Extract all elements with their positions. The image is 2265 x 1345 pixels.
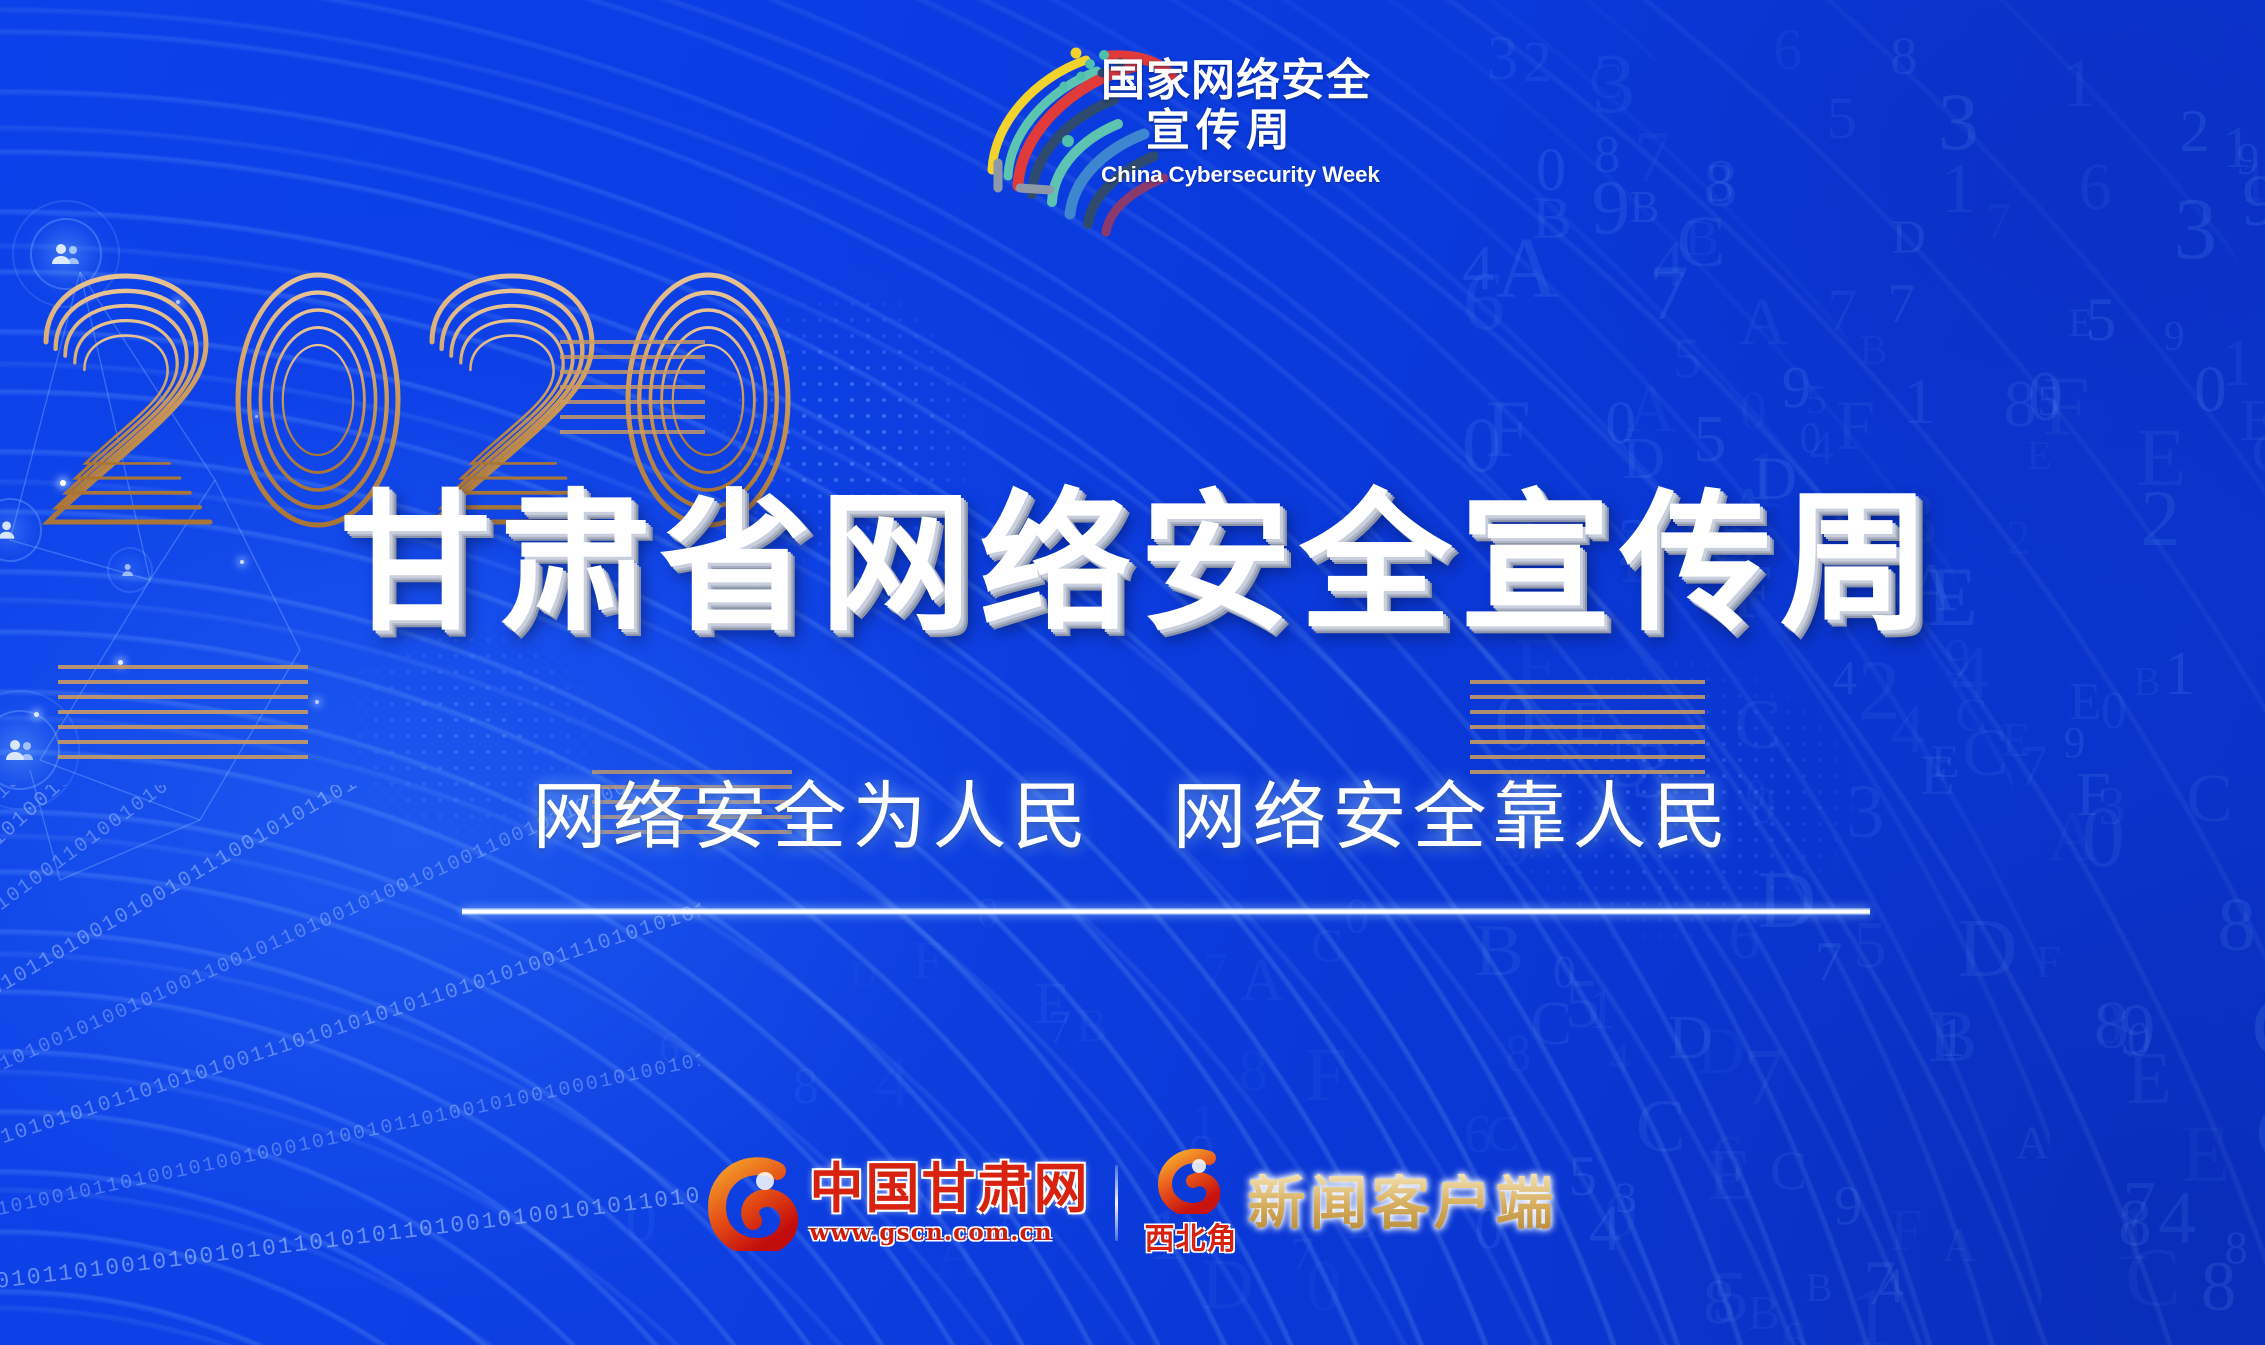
hex-texture-char: 1 [1941, 154, 1977, 225]
brand-gscn-name: 中国甘肃网 [809, 1161, 1089, 1215]
hex-texture-char: B [1859, 330, 1887, 373]
hex-texture-char: 7 [1634, 120, 1671, 194]
hex-texture-char: 6 [1463, 260, 1505, 344]
hex-texture-char: 3 [1487, 27, 1519, 90]
hex-texture-char: C [1530, 993, 1572, 1055]
hex-texture-char: E [1034, 974, 1070, 1033]
hex-texture-char: B [1076, 1003, 1107, 1050]
hex-texture-char: A [1738, 287, 1787, 355]
gold-stripes-left [58, 665, 308, 765]
brand-gscn: 中国甘肃网 www.gscn.com.cn [707, 1155, 1089, 1251]
hex-texture-char: F [2043, 365, 2090, 450]
hex-texture-char: 4 [1609, 1038, 1630, 1081]
hex-texture-char: 4 [1833, 655, 1857, 704]
hex-texture-char: 8 [1703, 149, 1737, 217]
logo-text-block: 国家网络安全 宣传周 China Cybersecurity Week [1101, 56, 1341, 188]
hex-texture-char: 4 [1462, 236, 1494, 300]
gold-stripes-right [1470, 680, 1705, 780]
hex-texture-char: B [1474, 914, 1524, 989]
hex-texture-char: E [1571, 695, 1605, 751]
people-icon [51, 243, 81, 265]
hex-texture-char: E [2136, 416, 2187, 499]
hex-texture-char: 0 [1306, 1251, 1342, 1323]
hex-texture-char: 7 [1815, 935, 1843, 991]
hex-texture-char: 5 [1827, 89, 1857, 150]
hex-texture-char: 0 [1345, 891, 1370, 941]
hex-texture-char: 9 [2164, 317, 2185, 359]
people-icon [5, 739, 35, 761]
hex-texture-char: B [2133, 661, 2161, 702]
hex-texture-char: 4 [1879, 1261, 1904, 1310]
hex-texture-char: 8 [1239, 1042, 1268, 1100]
hex-texture-char: 2 [1858, 648, 1901, 734]
hex-texture-char: 2 [2180, 102, 2210, 162]
gscn-logo-icon [707, 1155, 799, 1251]
hex-texture-char: 8 [1594, 129, 1621, 182]
hex-texture-char: C [1734, 690, 1781, 761]
xibeijiao-logo-icon [1153, 1148, 1229, 1214]
hex-texture-char: D [1892, 215, 1926, 262]
hex-texture-char: 5 [1693, 407, 1726, 473]
hex-texture-char: 5 [2085, 290, 2116, 352]
logo-title-line1: 国家网络安全 [1101, 56, 1341, 106]
hex-texture-char: 8 [1505, 1027, 1532, 1080]
hex-texture-char: 1 [2221, 329, 2255, 397]
hex-texture-char: 1 [1938, 1011, 1966, 1067]
hex-texture-char: 9 [2237, 136, 2260, 182]
logo-title-line2: 宣传周 [1101, 106, 1341, 156]
hex-texture-char: E [2068, 303, 2093, 343]
hex-texture-char: F [2036, 940, 2061, 985]
gold-stripes-mid-top [560, 340, 705, 435]
title-divider [462, 908, 1870, 915]
hex-texture-char: 9 [2119, 993, 2156, 1066]
page-title: 甘肃省网络安全宣传周 [0, 488, 2265, 640]
hex-texture-char: 1 [1587, 981, 1616, 1039]
page-subtitle: 网络安全为人民 网络安全靠人民 [0, 780, 2265, 854]
hex-texture-char: 8 [2201, 1252, 2237, 1323]
hex-texture-char: 5 [2038, 381, 2059, 424]
hex-texture-char: 5 [1712, 1261, 1748, 1334]
hex-texture-char: 1 [1191, 1098, 1216, 1149]
hex-texture-char: 7 [1888, 276, 1916, 332]
hex-texture-char: 3 [1938, 81, 1979, 163]
hex-texture-char: 5 [1853, 912, 1886, 979]
hex-texture-char: F [1485, 388, 1530, 470]
hex-texture-char: C [2252, 985, 2265, 1071]
hex-texture-char: 0 [1553, 949, 1576, 995]
hex-texture-char: E [2027, 435, 2052, 476]
hex-texture-char: C [1590, 56, 1623, 106]
hex-texture-char: 5 [1565, 970, 1600, 1040]
hex-texture-char: 8 [2003, 372, 2036, 439]
hex-texture-char: 1 [2222, 118, 2252, 177]
hex-texture-char: 8 [2095, 990, 2130, 1059]
hex-texture-char: B [1748, 1289, 1781, 1338]
hex-texture-char: F [1836, 391, 1876, 462]
hex-texture-char: D [1201, 1248, 1253, 1321]
hex-texture-char: 4 [1951, 635, 1989, 712]
hex-texture-char: 1 [2240, 152, 2265, 211]
hex-texture-char: 9 [1782, 358, 1812, 417]
hex-texture-char: 0 [2101, 685, 2127, 738]
hex-texture-char: 0 [1605, 393, 1636, 455]
hex-texture-char: 4 [874, 1045, 910, 1117]
hex-texture-char: 1 [2061, 49, 2095, 118]
hex-texture-char: 8 [1703, 1270, 1735, 1334]
hex-texture-char: 7 [1986, 196, 2011, 247]
hex-texture-char: 4 [1891, 694, 1926, 763]
hex-texture-char: B [1806, 1268, 1833, 1309]
hex-texture-char: E [2126, 1042, 2171, 1116]
hex-texture-char: E [2002, 717, 2032, 765]
hex-texture-char: 7 [1864, 1251, 1896, 1315]
hex-texture-char: 3 [1707, 156, 1734, 211]
hex-texture-char: C [1311, 923, 1342, 970]
hex-texture-char: 0 [1494, 681, 1535, 764]
hex-texture-char: D [1957, 908, 2017, 992]
hex-texture-char: B [1685, 213, 1720, 265]
hex-texture-char: F [1305, 1038, 1347, 1114]
hex-texture-char: 2 [1523, 33, 1552, 92]
hex-texture-char: 7 [1827, 281, 1857, 341]
hex-texture-char: D [1697, 1018, 1745, 1085]
hex-texture-char: F [913, 934, 943, 988]
brand-gscn-url: www.gscn.com.cn [809, 1219, 1089, 1246]
hex-texture-char: C [2252, 424, 2265, 482]
poster-canvas: 45CE42AA37EED0E48870A697FE47D5B19FC015F7… [0, 0, 2265, 1345]
hex-texture-char: 7 [1744, 1038, 1784, 1118]
hex-texture-char: A [1240, 950, 1283, 1010]
hex-texture-char: 5 [1673, 331, 1701, 388]
brand-xibeijiao-name: 新闻客户端 [1247, 1174, 1557, 1232]
hex-texture-char: A [1495, 224, 1558, 311]
hex-texture-char: 8 [2217, 887, 2255, 963]
hex-texture-char: D [850, 958, 877, 995]
hex-texture-char: 0 [2127, 1016, 2151, 1064]
hex-texture-char: 7 [1202, 946, 1228, 998]
hex-texture-char: 3 [2173, 185, 2217, 272]
hex-texture-char: 9 [2242, 165, 2265, 238]
brand-xibeijiao-mark-label: 西北角 [1144, 1214, 1237, 1258]
hex-texture-char: 6 [1781, 1315, 1807, 1345]
hex-texture-char: E [2240, 391, 2265, 451]
logo-subtitle-en: China Cybersecurity Week [1101, 162, 1341, 188]
hex-texture-char: 1 [1849, 1274, 1892, 1345]
hex-texture-char: 4 [1652, 233, 1685, 298]
hex-texture-char: D [1757, 859, 1816, 941]
hex-texture-char: 1 [1903, 370, 1936, 435]
hex-texture-char: C [1963, 719, 2008, 787]
binary-code-arcs: 0110101001010010100101011010100101001010… [0, 785, 700, 1345]
hex-texture-char: 9 [1592, 169, 1631, 246]
hex-texture-char: B [1630, 185, 1660, 230]
hex-texture-char: 0 [1536, 141, 1566, 202]
hex-texture-char: D [1668, 1007, 1713, 1069]
hex-texture-char: 0 [2028, 362, 2063, 433]
hex-texture-char: 4 [1810, 425, 1834, 473]
hex-texture-char: 5 [1806, 379, 1827, 420]
hex-texture-char: 6 [2078, 155, 2111, 222]
hex-texture-char: 0 [1799, 417, 1821, 461]
hex-texture-char: 1 [2164, 643, 2195, 705]
hex-texture-char: 3 [1592, 41, 1635, 127]
hex-texture-char: C [1955, 692, 1986, 739]
hex-texture-char: A [1626, 374, 1676, 443]
hex-texture-char: 8 [2094, 997, 2122, 1054]
hex-texture-char: 0 [2194, 357, 2227, 423]
brand-xibeijiao: 西北角 新闻客户端 [1144, 1148, 1557, 1258]
china-cybersecurity-week-logo: 国家网络安全 宣传周 China Cybersecurity Week [968, 38, 1338, 238]
hex-texture-char: C [1677, 205, 1726, 278]
hex-texture-char: 0 [1462, 407, 1501, 486]
hex-texture-char: 7 [1048, 1005, 1072, 1053]
footer-brands: 中国甘肃网 www.gscn.com.cn [0, 1148, 2265, 1258]
hex-texture-char: 9 [2063, 722, 2085, 766]
hex-texture-char: E [2069, 676, 2101, 729]
hex-texture-char: 7 [1650, 254, 1689, 332]
hex-texture-char: 6 [1773, 21, 1802, 79]
hex-texture-char: 6 [659, 1027, 680, 1068]
hex-texture-char: B [1532, 189, 1572, 249]
brand-separator [1115, 1165, 1118, 1241]
hex-texture-char: 8 [793, 1061, 819, 1113]
hex-texture-char: 8 [1890, 29, 1917, 83]
hex-texture-char: B [1928, 1000, 1978, 1074]
hex-texture-char: 0 [1740, 384, 1767, 437]
